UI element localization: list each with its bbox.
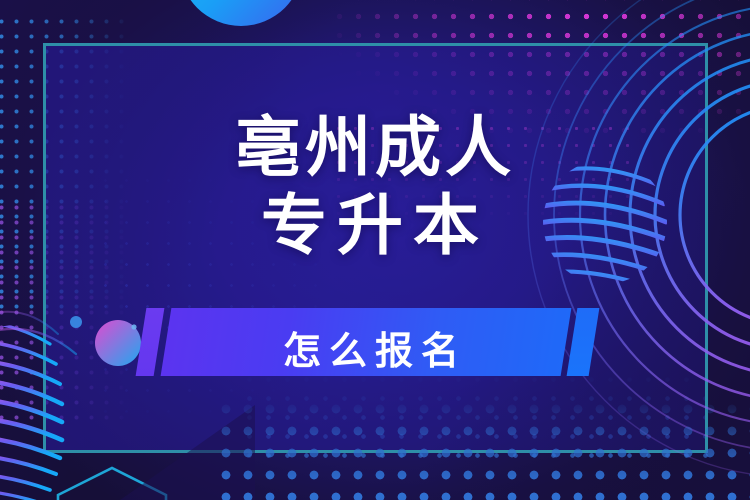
top-gradient-circle-shape xyxy=(179,0,303,26)
promo-banner: 亳州成人 专升本 怎么报名 xyxy=(0,0,750,500)
halftone-dots-bottom xyxy=(215,398,750,500)
subtitle-text: 怎么报名 xyxy=(0,320,750,375)
subtitle-block: 怎么报名 xyxy=(0,286,750,398)
